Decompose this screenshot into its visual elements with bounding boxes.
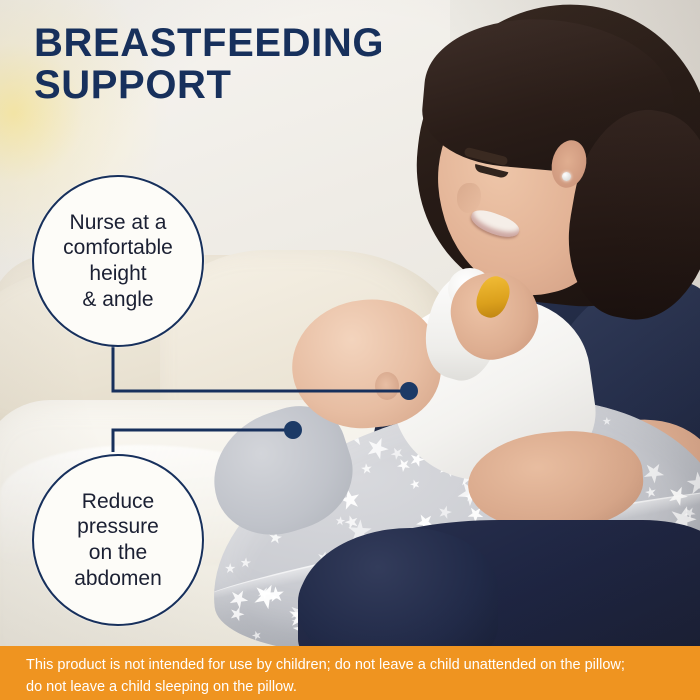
callout-text-1: Nurse at a comfortable height & angle — [47, 210, 189, 312]
connector-line-2 — [113, 430, 288, 452]
callout-marker-pillow — [284, 421, 302, 439]
product-infographic: BREASTFEEDING SUPPORT Nurse at a comfort… — [0, 0, 700, 700]
callout-bubble-nurse-height-angle: Nurse at a comfortable height & angle — [32, 175, 204, 347]
infographic-overlay: BREASTFEEDING SUPPORT Nurse at a comfort… — [0, 0, 700, 700]
safety-warning-banner: This product is not intended for use by … — [0, 646, 700, 700]
callout-marker-baby-head — [400, 382, 418, 400]
connector-line-1 — [113, 344, 404, 391]
callout-bubble-reduce-pressure: Reduce pressure on the abdomen — [32, 454, 204, 626]
callout-text-2: Reduce pressure on the abdomen — [58, 489, 178, 591]
